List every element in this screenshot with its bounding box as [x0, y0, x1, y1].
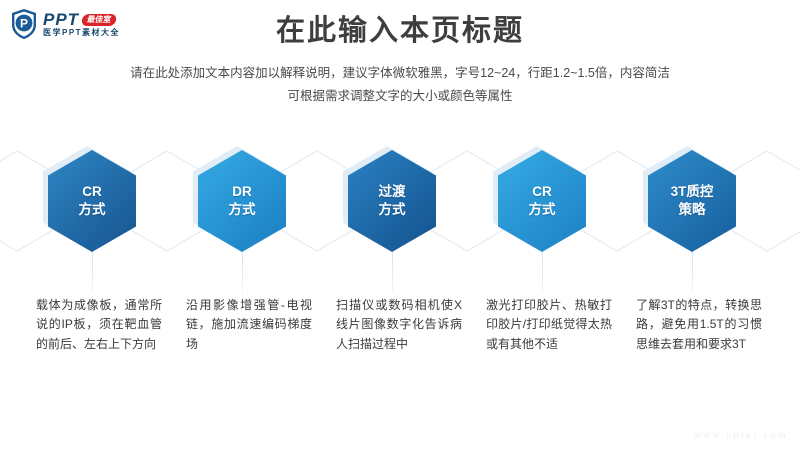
description-row: 载体为成像板，通常所说的IP板，须在靶血管的前后、左右上下方向沿用影像增强管-电… [0, 296, 800, 406]
hexagon-label-line-1: 过渡 [379, 183, 406, 201]
connector-line [542, 252, 543, 292]
hexagon-label-line-1: DR [232, 183, 252, 201]
step-hexagon-5[interactable]: 3T质控策略 [648, 150, 736, 252]
step-description-1: 载体为成像板，通常所说的IP板，须在靶血管的前后、左右上下方向 [36, 296, 162, 354]
hexagon-label-line-2: 方式 [379, 201, 406, 219]
page-title: 在此输入本页标题 [0, 14, 800, 49]
subtitle-line-2: 可根据需求调整文字的大小或颜色等属性 [0, 85, 800, 108]
step-hexagon-2[interactable]: DR方式 [198, 150, 286, 252]
step-hexagon-4[interactable]: CR方式 [498, 150, 586, 252]
hexagon-label-line-1: CR [532, 183, 552, 201]
subtitle-line-1: 请在此处添加文本内容加以解释说明，建议字体微软雅黑，字号12~24，行距1.2~… [0, 62, 800, 85]
connector-line [242, 252, 243, 292]
connector-line [692, 252, 693, 292]
step-hexagon-1[interactable]: CR方式 [48, 150, 136, 252]
step-description-2: 沿用影像增强管-电视链，施加流速编码梯度场 [186, 296, 312, 354]
connector-line [392, 252, 393, 292]
step-hexagon-3[interactable]: 过渡方式 [348, 150, 436, 252]
step-description-3: 扫描仪或数码相机使X线片图像数字化告诉病人扫描过程中 [336, 296, 462, 354]
step-description-5: 了解3T的特点，转换思路，避免用1.5T的习惯思维去套用和要求3T [636, 296, 762, 354]
step-description-4: 激光打印胶片、热敏打印胶片/打印纸觉得太热或有其他不适 [486, 296, 612, 354]
hexagon-process-band: CR方式DR方式过渡方式CR方式3T质控策略 [0, 150, 800, 280]
hexagon-label-line-2: 方式 [229, 201, 256, 219]
page-subtitle: 请在此处添加文本内容加以解释说明，建议字体微软雅黑，字号12~24，行距1.2~… [0, 62, 800, 107]
hexagon-label-line-1: CR [82, 183, 102, 201]
hexagon-label-line-2: 方式 [79, 201, 106, 219]
connector-line [92, 252, 93, 292]
footer-watermark: www.ppter.com [694, 430, 788, 440]
hexagon-label-line-1: 3T质控 [671, 183, 714, 201]
hexagon-label-line-2: 策略 [679, 201, 706, 219]
hexagon-label-line-2: 方式 [529, 201, 556, 219]
